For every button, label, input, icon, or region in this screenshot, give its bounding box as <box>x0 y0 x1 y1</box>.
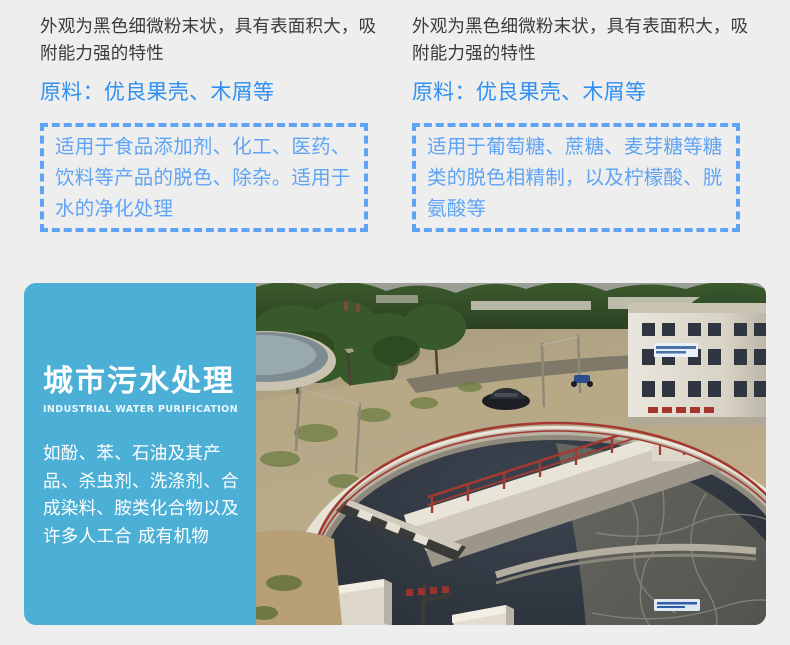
application-card: 城市污水处理 INDUSTRIAL WATER PURIFICATION 如酚、… <box>24 283 766 625</box>
panel-body-text: 如酚、苯、石油及其产品、杀虫剂、洗涤剂、合成染料、胺类化合物以及许多人工合 成有… <box>43 416 243 551</box>
panel-subtitle: INDUSTRIAL WATER PURIFICATION <box>43 399 240 416</box>
usage-box-left: 适用于食品添加剂、化工、医药、饮料等产品的脱色、除杂。适用于水的净化处理 <box>40 123 368 232</box>
wastewater-plant-photo <box>256 283 766 625</box>
photo-illustration <box>256 283 766 625</box>
panel-title: 城市污水处理 <box>43 283 240 399</box>
application-panel: 城市污水处理 INDUSTRIAL WATER PURIFICATION 如酚、… <box>24 283 256 625</box>
usage-text-left: 适用于食品添加剂、化工、医药、饮料等产品的脱色、除杂。适用于水的净化处理 <box>44 127 364 228</box>
product-material-left: 原料：优良果壳、木屑等 <box>40 68 400 107</box>
wall-sign <box>654 599 700 611</box>
factory-building <box>628 303 766 425</box>
product-description-left: 外观为黑色细微粉末状，具有表面积大，吸附能力强的特性 <box>40 0 385 68</box>
info-column-right: 外观为黑色细微粉末状，具有表面积大，吸附能力强的特性 原料：优良果壳、木屑等 适… <box>412 0 772 232</box>
usage-box-right: 适用于葡萄糖、蔗糖、麦芽糖等糖类的脱色相精制，以及柠檬酸、胱氨酸等 <box>412 123 740 232</box>
product-material-right: 原料：优良果壳、木屑等 <box>412 68 772 107</box>
info-column-left: 外观为黑色细微粉末状，具有表面积大，吸附能力强的特性 原料：优良果壳、木屑等 适… <box>40 0 400 232</box>
product-description-right: 外观为黑色细微粉末状，具有表面积大，吸附能力强的特性 <box>412 0 757 68</box>
product-info-row: 外观为黑色细微粉末状，具有表面积大，吸附能力强的特性 原料：优良果壳、木屑等 适… <box>0 0 790 255</box>
usage-text-right: 适用于葡萄糖、蔗糖、麦芽糖等糖类的脱色相精制，以及柠檬酸、胱氨酸等 <box>416 127 736 228</box>
